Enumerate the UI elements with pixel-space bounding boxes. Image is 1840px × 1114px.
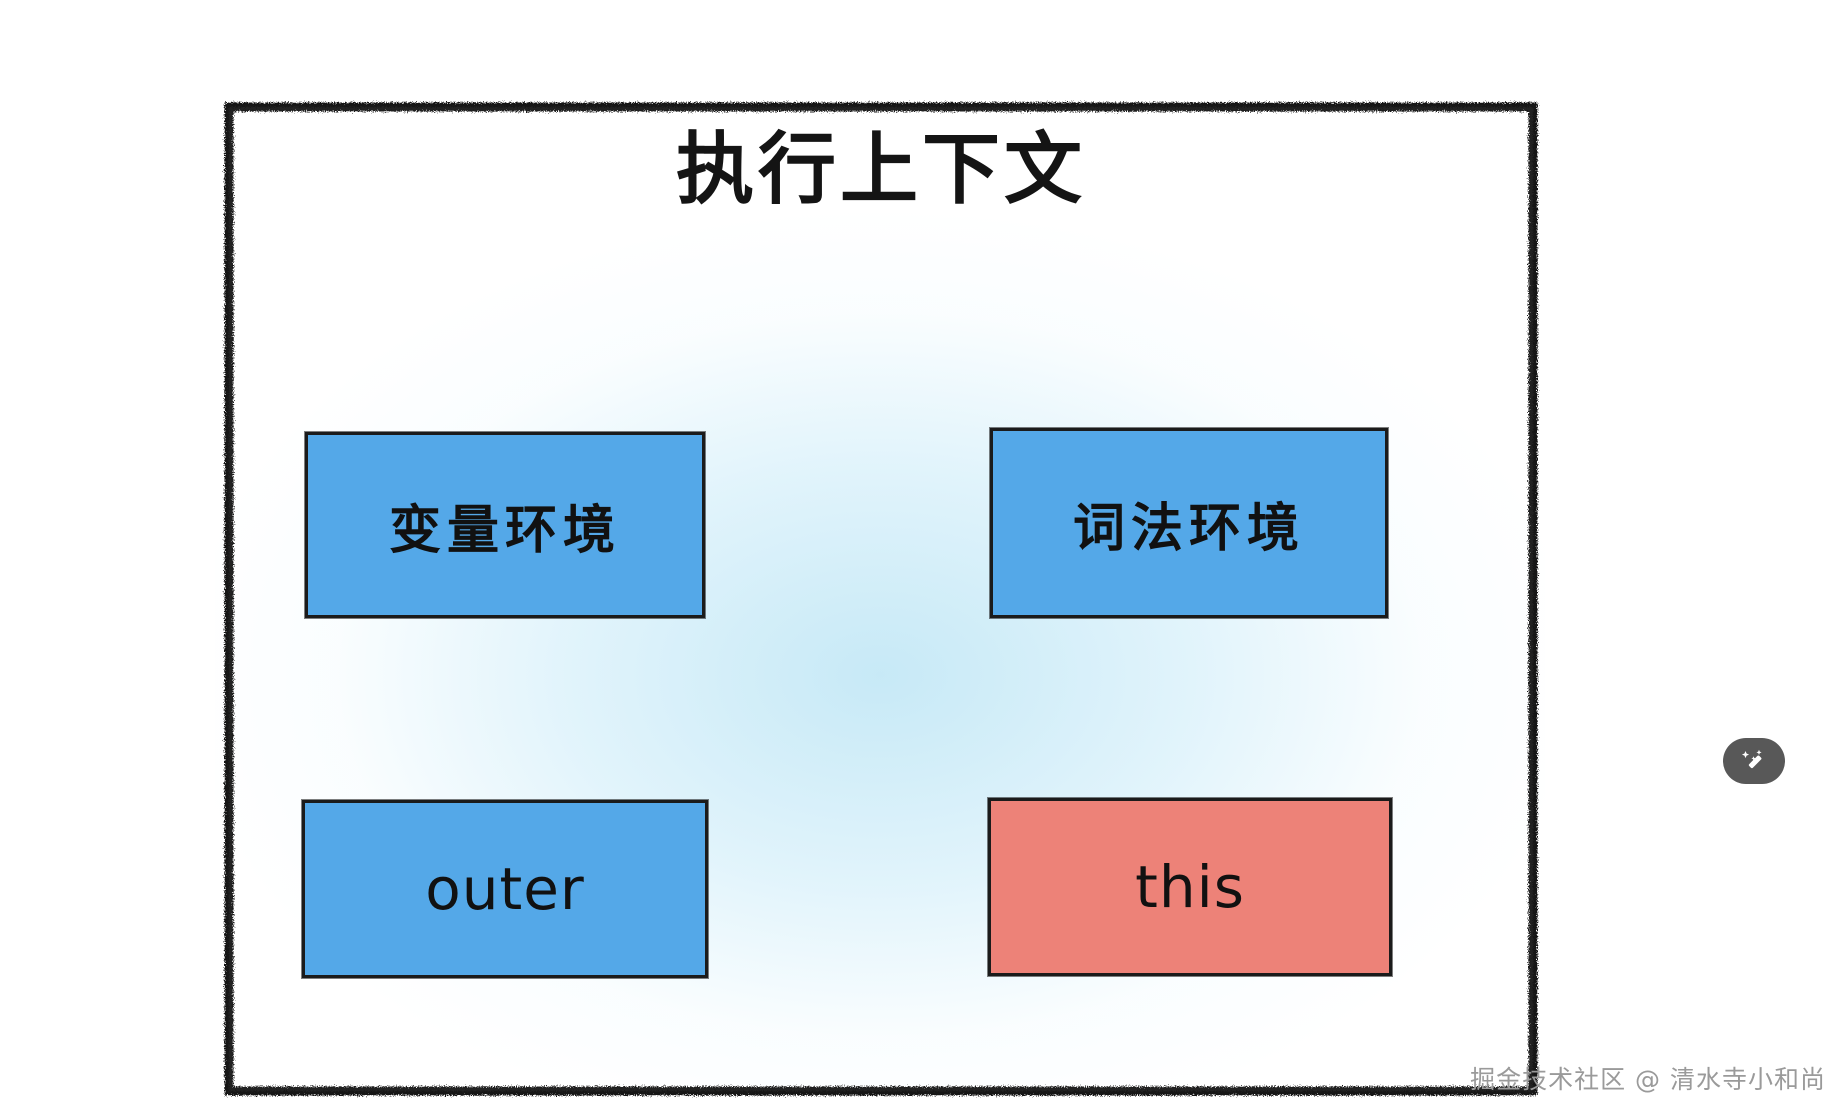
box-outer[interactable]: outer bbox=[302, 800, 708, 978]
box-lexical-environment[interactable]: 词法环境 bbox=[990, 428, 1388, 618]
magic-wand-button[interactable] bbox=[1723, 738, 1785, 784]
box-label-variable-environment: 变量环境 bbox=[389, 488, 621, 563]
box-label-outer: outer bbox=[425, 855, 585, 923]
diagram-canvas: 执行上下文 变量环境 词法环境 outer this 掘金技术社区 @ 清水寺小… bbox=[0, 0, 1840, 1114]
box-variable-environment[interactable]: 变量环境 bbox=[305, 432, 705, 618]
box-this[interactable]: this bbox=[988, 798, 1392, 976]
watermark: 掘金技术社区 @ 清水寺小和尚 bbox=[1470, 1060, 1826, 1096]
box-label-this: this bbox=[1135, 853, 1245, 921]
box-label-lexical-environment: 词法环境 bbox=[1073, 486, 1305, 561]
magic-wand-icon bbox=[1739, 746, 1769, 776]
page-title: 执行上下文 bbox=[222, 128, 1540, 214]
